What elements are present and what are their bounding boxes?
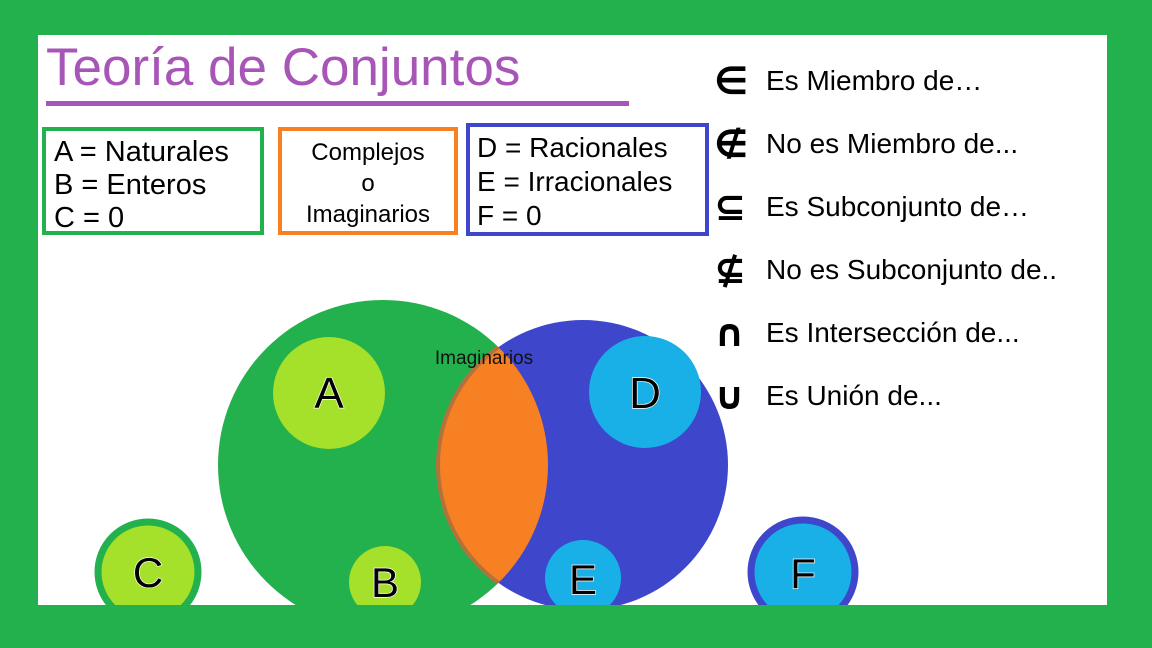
legend-row: ⊆ Es Subconjunto de… [714, 175, 1104, 238]
slide-root: Teoría de Conjuntos A = Naturales B = En… [0, 0, 1152, 648]
set-c-node: C [98, 522, 198, 605]
legend-label: No es Miembro de... [766, 128, 1018, 160]
racionales-line-2: E = Irracionales [477, 165, 705, 199]
subset-of-icon: ⊆ [714, 188, 766, 226]
set-f-node: F [751, 520, 855, 605]
set-e-label: E [569, 556, 597, 603]
legend-label: Es Subconjunto de… [766, 191, 1029, 223]
set-d-label: D [629, 369, 661, 418]
naturales-line-3: C = 0 [54, 202, 260, 235]
complejos-line-3: Imaginarios [282, 199, 454, 230]
naturales-line-2: B = Enteros [54, 169, 260, 202]
set-d-node: D [589, 336, 701, 448]
complejos-line-2: o [282, 168, 454, 199]
page-title: Teoría de Conjuntos [46, 41, 520, 94]
element-of-icon: ∈ [714, 62, 766, 100]
imaginarios-label: Imaginarios [435, 348, 533, 369]
complejos-box: Complejos o Imaginarios [278, 127, 458, 235]
naturales-line-1: A = Naturales [54, 136, 260, 169]
racionales-line-1: D = Racionales [477, 131, 705, 165]
venn-diagram: Enteros Reales Imaginarios A B C [38, 240, 1107, 605]
not-element-of-icon: ∉ [714, 125, 766, 163]
set-a-node: A [273, 337, 385, 449]
set-f-label: F [790, 550, 816, 597]
set-b-label: B [371, 559, 399, 605]
set-c-label: C [133, 549, 163, 596]
racionales-line-3: F = 0 [477, 199, 705, 233]
complejos-line-1: Complejos [282, 137, 454, 168]
page-title-underline [46, 101, 629, 106]
legend-row: ∈ Es Miembro de… [714, 49, 1104, 112]
set-a-label: A [314, 369, 344, 418]
legend-label: Es Miembro de… [766, 65, 982, 97]
reales-label: Reales [544, 256, 622, 284]
content-panel: Teoría de Conjuntos A = Naturales B = En… [38, 35, 1107, 605]
legend-row: ∉ No es Miembro de... [714, 112, 1104, 175]
enteros-label: Enteros [340, 256, 426, 284]
naturales-box: A = Naturales B = Enteros C = 0 [42, 127, 264, 235]
racionales-box: D = Racionales E = Irracionales F = 0 [466, 123, 709, 236]
